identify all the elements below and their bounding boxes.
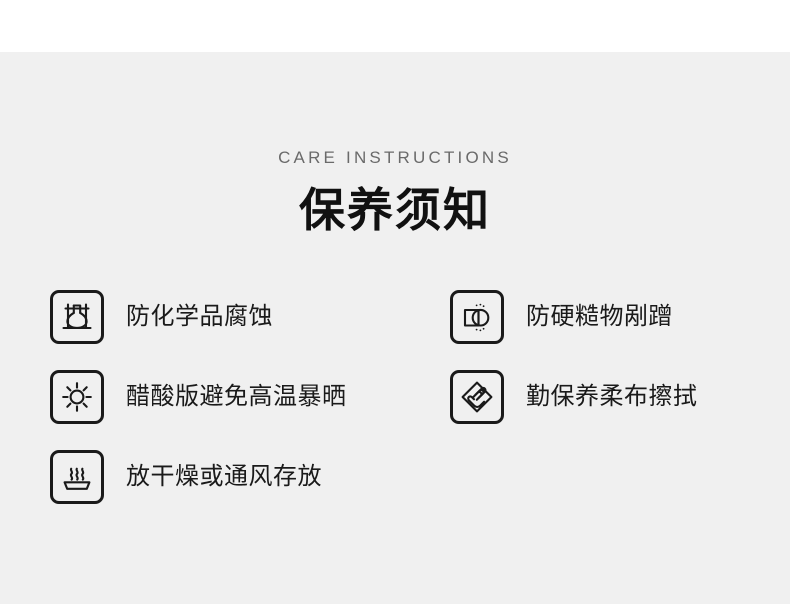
care-item-chemical: 防化学品腐蚀 <box>50 290 273 344</box>
care-item-label: 勤保养柔布擦拭 <box>526 384 698 410</box>
care-items-grid: 防化学品腐蚀 <box>0 282 790 552</box>
care-item-wipe: 勤保养柔布擦拭 <box>450 370 698 424</box>
care-item-dry-storage: 放干燥或通风存放 <box>50 450 322 504</box>
care-item-label: 放干燥或通风存放 <box>126 464 322 490</box>
drying-heat-icon <box>50 450 104 504</box>
page-title: 保养须知 <box>0 182 790 238</box>
eyebrow-heading: CARE INSTRUCTIONS <box>0 148 790 168</box>
flask-stand-icon <box>50 290 104 344</box>
care-item-sunlight: 醋酸版避免高温暴晒 <box>50 370 347 424</box>
sun-icon <box>50 370 104 424</box>
care-item-abrasion: 防硬糙物剐蹭 <box>450 290 673 344</box>
hard-object-icon <box>450 290 504 344</box>
hand-wipe-icon <box>450 370 504 424</box>
care-instructions-page: CARE INSTRUCTIONS 保养须知 <box>0 0 790 604</box>
care-item-label: 防硬糙物剐蹭 <box>526 304 673 330</box>
care-item-label: 醋酸版避免高温暴晒 <box>126 384 347 410</box>
care-item-label: 防化学品腐蚀 <box>126 304 273 330</box>
